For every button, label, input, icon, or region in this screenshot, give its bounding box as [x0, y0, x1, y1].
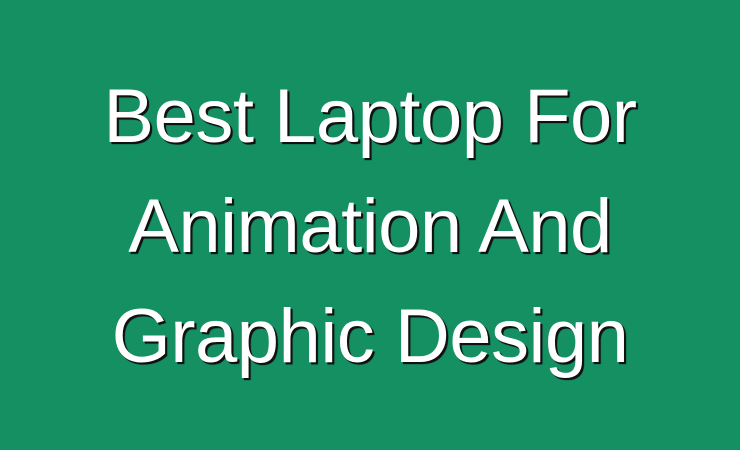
title-line-2: Animation And	[24, 172, 716, 282]
title-line-3: Graphic Design	[24, 282, 716, 392]
featured-image-card: Best Laptop For Animation And Graphic De…	[0, 0, 740, 450]
title-line-1: Best Laptop For	[24, 62, 716, 172]
page-title: Best Laptop For Animation And Graphic De…	[0, 62, 740, 392]
